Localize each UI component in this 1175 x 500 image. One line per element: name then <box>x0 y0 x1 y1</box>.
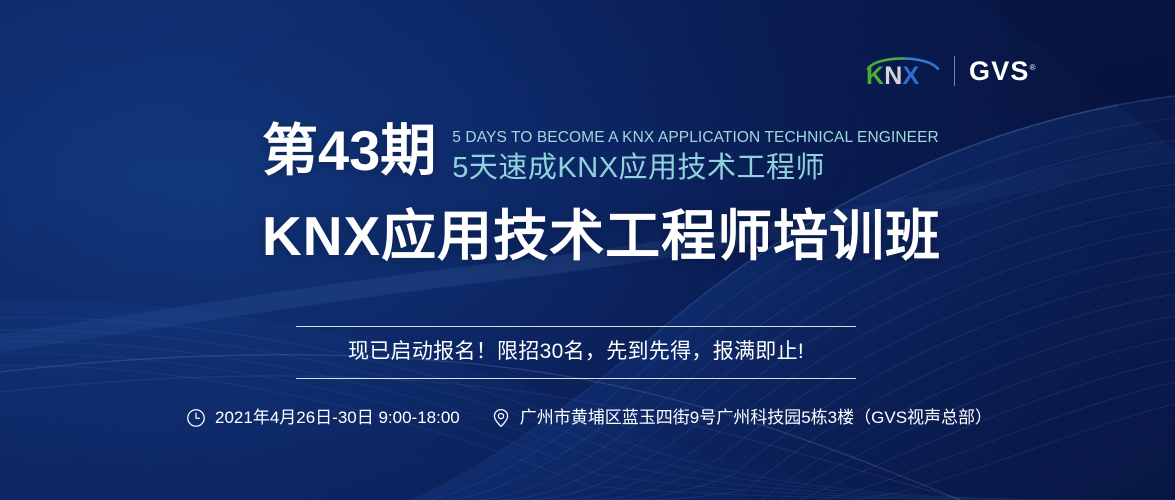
subtitle-column: 5 DAYS TO BECOME A KNX APPLICATION TECHN… <box>452 118 939 186</box>
map-pin-icon <box>491 408 511 428</box>
knx-logo: KNX <box>866 52 940 90</box>
event-time-label: 2021年4月26日-30日 9:00-18:00 <box>215 406 460 430</box>
logo-separator <box>954 56 955 86</box>
subtitle-english: 5 DAYS TO BECOME A KNX APPLICATION TECHN… <box>452 128 939 148</box>
page-title: KNX应用技术工程师培训班 <box>262 203 941 269</box>
subtitle-chinese: 5天速成KNX应用技术工程师 <box>452 150 939 186</box>
event-time: 2021年4月26日-30日 9:00-18:00 <box>186 406 460 430</box>
registration-notice: 现已启动报名！限招30名，先到先得，报满即止! <box>296 326 856 379</box>
knx-letter-x: X <box>903 62 920 90</box>
headline-row: 第43期 5 DAYS TO BECOME A KNX APPLICATION … <box>262 118 939 186</box>
clock-icon <box>186 408 206 428</box>
event-location-label: 广州市黄埔区蓝玉四街9号广州科技园5栋3楼（GVS视声总部） <box>520 406 992 430</box>
divider-bottom <box>296 378 856 379</box>
knx-wordmark: KNX <box>866 64 919 89</box>
knx-letter-k: K <box>866 62 884 90</box>
brand-logo-lockup: KNX GVS® <box>866 52 1036 90</box>
event-location: 广州市黄埔区蓝玉四街9号广州科技园5栋3楼（GVS视声总部） <box>491 406 992 430</box>
registration-notice-text: 现已启动报名！限招30名，先到先得，报满即止! <box>296 327 856 378</box>
issue-number: 第43期 <box>262 118 436 184</box>
knx-letter-n: N <box>884 62 902 90</box>
event-meta: 2021年4月26日-30日 9:00-18:00 广州市黄埔区蓝玉四街9号广州… <box>186 406 992 430</box>
registered-trademark-icon: ® <box>1030 63 1036 72</box>
gvs-logo: GVS® <box>969 56 1036 87</box>
event-banner: KNX GVS® 第43期 5 DAYS TO BECOME A KNX APP… <box>0 0 1175 500</box>
gvs-wordmark: GVS <box>969 56 1030 86</box>
